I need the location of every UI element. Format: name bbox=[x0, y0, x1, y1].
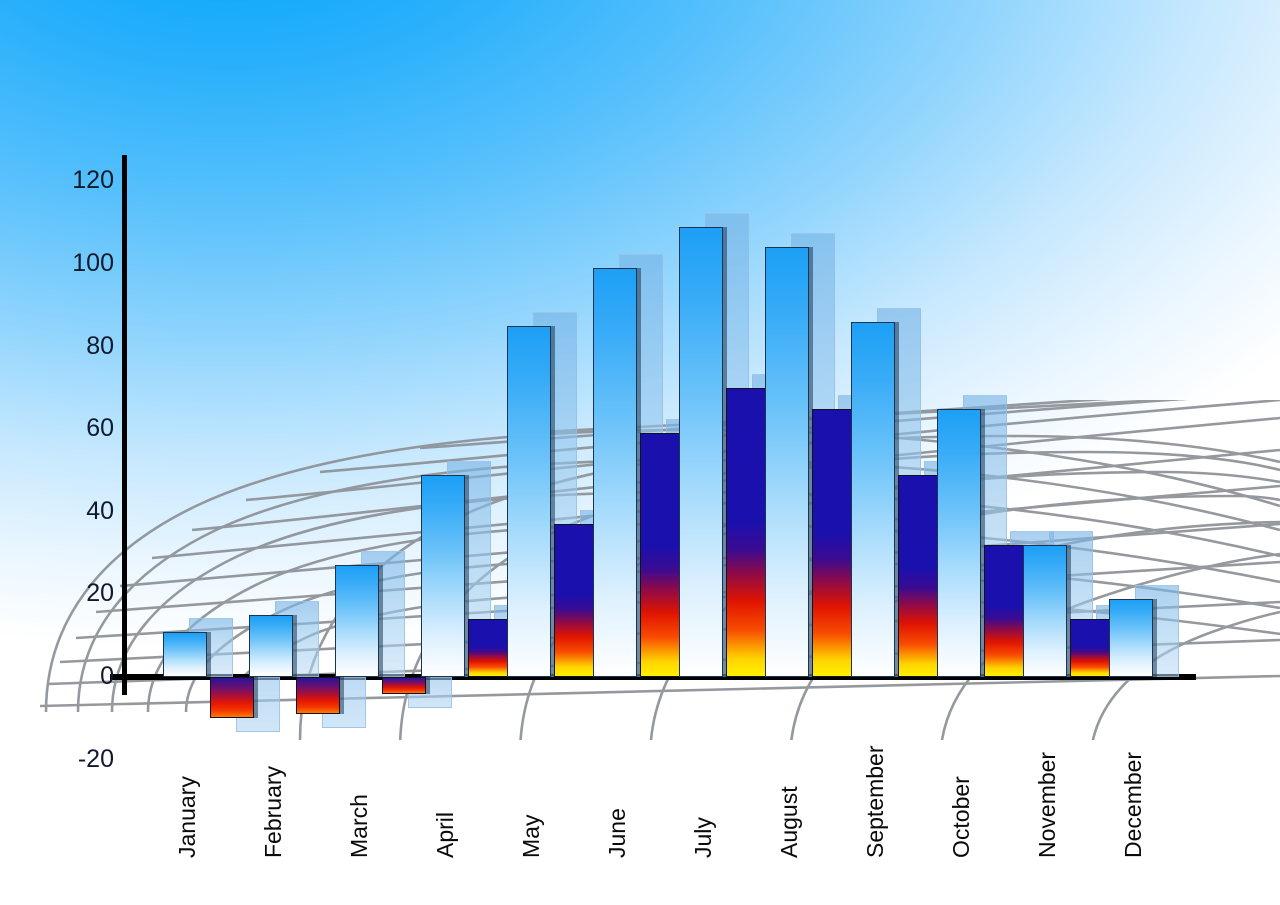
x-tick-label-december: December bbox=[1120, 752, 1147, 858]
bar-february-series2[interactable] bbox=[296, 677, 340, 714]
bar-november-series2[interactable] bbox=[1070, 619, 1114, 677]
bar-face bbox=[898, 475, 942, 677]
bar-march-series1[interactable] bbox=[335, 565, 379, 677]
bar-may-series2[interactable] bbox=[554, 524, 598, 677]
bar-august-series2[interactable] bbox=[812, 409, 856, 677]
bar-face bbox=[765, 247, 809, 677]
bar-october-series2[interactable] bbox=[984, 545, 1028, 677]
bar-august-series1[interactable] bbox=[765, 247, 809, 677]
bar-side-face bbox=[340, 677, 344, 714]
chart-canvas: 120100806040200-20 JanuaryFebruaryMarchA… bbox=[0, 0, 1280, 905]
bar-face bbox=[249, 615, 293, 677]
bar-face bbox=[421, 475, 465, 677]
bar-face bbox=[382, 677, 426, 694]
bar-face bbox=[210, 677, 254, 718]
bar-september-series2[interactable] bbox=[898, 475, 942, 677]
bar-september-series1[interactable] bbox=[851, 322, 895, 677]
x-tick-label-june: June bbox=[604, 808, 631, 858]
bar-side-face bbox=[1153, 599, 1157, 677]
bar-march-series2[interactable] bbox=[382, 677, 426, 694]
y-axis-line bbox=[122, 155, 127, 695]
x-tick-label-august: August bbox=[776, 786, 803, 858]
y-tick-label: 20 bbox=[48, 581, 114, 606]
y-tick-label: -20 bbox=[48, 747, 114, 772]
x-tick-label-april: April bbox=[432, 812, 459, 858]
bar-face bbox=[507, 326, 551, 677]
bar-october-series1[interactable] bbox=[937, 409, 981, 677]
bar-june-series1[interactable] bbox=[593, 268, 637, 677]
bar-face bbox=[812, 409, 856, 677]
y-tick-label: 120 bbox=[48, 168, 114, 193]
y-tick-label: 80 bbox=[48, 334, 114, 359]
y-tick-label: 60 bbox=[48, 416, 114, 441]
bar-face bbox=[554, 524, 598, 677]
bar-face bbox=[851, 322, 895, 677]
bar-face bbox=[726, 388, 770, 677]
x-tick-label-may: May bbox=[518, 815, 545, 858]
bar-july-series1[interactable] bbox=[679, 227, 723, 677]
x-tick-label-january: January bbox=[174, 776, 201, 858]
x-tick-label-march: March bbox=[346, 794, 373, 858]
bar-side-face bbox=[207, 632, 211, 677]
y-tick-label: 100 bbox=[48, 251, 114, 276]
bar-july-series2[interactable] bbox=[726, 388, 770, 677]
y-tick-label: 0 bbox=[48, 664, 114, 689]
y-tick-label: 40 bbox=[48, 499, 114, 524]
bar-may-series1[interactable] bbox=[507, 326, 551, 677]
bar-face bbox=[163, 632, 207, 677]
x-tick-label-october: October bbox=[948, 776, 975, 858]
bar-face bbox=[679, 227, 723, 677]
bar-june-series2[interactable] bbox=[640, 433, 684, 677]
x-tick-label-november: November bbox=[1034, 752, 1061, 858]
bar-face bbox=[984, 545, 1028, 677]
bar-face bbox=[1070, 619, 1114, 677]
bar-december-series1[interactable] bbox=[1109, 599, 1153, 677]
x-tick-label-september: September bbox=[862, 745, 889, 858]
bar-face bbox=[1109, 599, 1153, 677]
bar-side-face bbox=[426, 677, 430, 694]
bar-january-series2[interactable] bbox=[210, 677, 254, 718]
bar-face bbox=[335, 565, 379, 677]
x-tick-label-july: July bbox=[690, 817, 717, 858]
x-tick-label-february: February bbox=[260, 766, 287, 858]
bar-side-face bbox=[254, 677, 258, 718]
bar-face bbox=[640, 433, 684, 677]
bar-face bbox=[1023, 545, 1067, 677]
bar-february-series1[interactable] bbox=[249, 615, 293, 677]
plot-area: 120100806040200-20 JanuaryFebruaryMarchA… bbox=[0, 0, 1280, 905]
bar-face bbox=[937, 409, 981, 677]
bar-november-series1[interactable] bbox=[1023, 545, 1067, 677]
bar-face bbox=[468, 619, 512, 677]
bar-april-series2[interactable] bbox=[468, 619, 512, 677]
bar-face bbox=[593, 268, 637, 677]
bar-side-face bbox=[379, 565, 383, 677]
bar-april-series1[interactable] bbox=[421, 475, 465, 677]
bar-side-face bbox=[293, 615, 297, 677]
bar-face bbox=[296, 677, 340, 714]
bar-january-series1[interactable] bbox=[163, 632, 207, 677]
